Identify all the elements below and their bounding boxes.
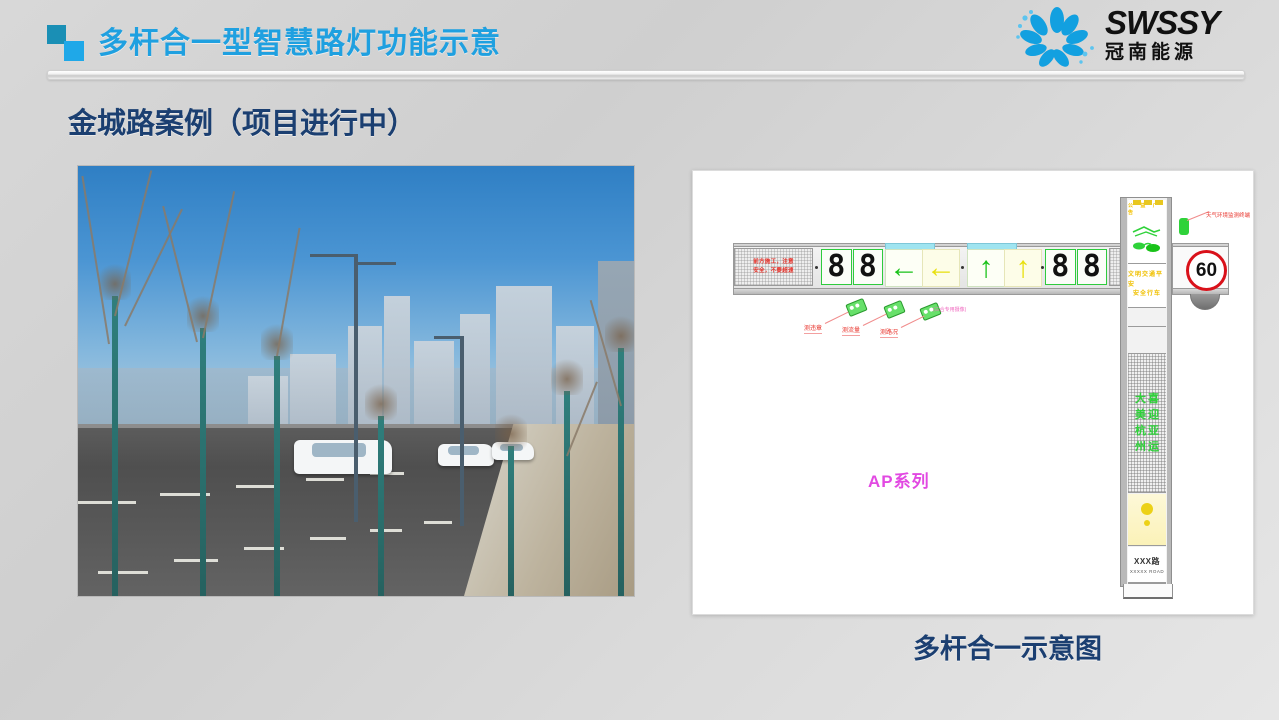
photo-tree [564,391,570,596]
page-title: 多杆合一型智慧路灯功能示意 [98,18,501,62]
lane-arrow-cell-3: ↑ [967,249,1005,287]
photo-tree [200,328,206,596]
banner-char: 美 [1135,410,1146,421]
street-name-en: XXXXX ROAD [1130,569,1164,574]
photo-lane-marking [310,537,346,540]
pole-mount-bracket [1155,200,1163,205]
gantry-right-countdown-digits: 8 8 [1045,249,1107,285]
photo-street-lamp-pole [460,336,464,526]
led-text-line-1: 前方施工，注意 [753,258,794,267]
section-subtitle: 金城路案例（项目进行中） [68,100,416,142]
pole-banner-column-left: 大 美 杭 州 [1135,394,1146,453]
speed-limit-sign: 60 [1186,250,1227,291]
street-name-cn: XXX路 [1134,556,1160,567]
callout-leader-line [825,312,849,324]
pole-banner-column-right: 喜 迎 亚 运 [1148,394,1159,453]
header-bullet-squares [47,25,89,61]
photo-lane-marking [370,529,402,532]
pole-public-ad-screen: 公 益 广 告 [1128,200,1166,264]
camera-callout-label: 测流量 [842,325,860,336]
led-text-line-2: 安全，不要超速 [753,267,794,276]
callout-leader-line [863,314,887,326]
jincheng-road-site-photo [77,165,635,597]
countdown-digit: 8 [1077,249,1108,285]
pole-segment-divider [1128,326,1166,327]
bullet-square-light-icon [64,41,84,61]
left-arrow-yellow-icon: ← [926,253,956,283]
weather-sensor-label: 天气环境监测终端 [1206,211,1250,219]
photo-street-lamp-arm [310,254,358,257]
camera-callout-label: 测路况 [880,327,898,338]
header-divider [47,70,1245,80]
lane-arrow-cell-1: ← [885,249,923,287]
logo-brand-text: SWSSY [1105,6,1260,39]
countdown-digit: 8 [853,249,884,285]
gantry-left-led-panel: 前方施工，注意 安全，不要超速 [734,248,813,286]
pole-mount-bracket [1144,200,1152,205]
photo-tree [112,296,118,596]
dome-camera-icon [1190,294,1220,310]
photo-tree [274,356,280,596]
pole-lightbox-ad-panel [1128,494,1166,546]
photo-street-lamp-pole [354,254,358,522]
banner-char: 迎 [1148,410,1159,421]
smart-pole-column: 公 益 广 告 文明交通平安 [1120,197,1172,587]
ad-graphic-circle-small [1144,520,1150,526]
pole-guide-line-1: 文明交通平安 [1128,271,1166,290]
photo-lane-marking [98,571,148,574]
ad-graphic-circle-large [1141,503,1153,515]
lane-arrow-cell-2: ← [922,249,960,287]
multi-pole-integration-schematic: 前方施工，注意 安全，不要超速 8 8 ← ← ↑ ↑ [692,170,1254,615]
countdown-digit: 8 [821,249,852,285]
panel-divider-dot [815,266,818,269]
pole-guide-text-panel: 文明交通平安 安全行车 [1128,264,1166,308]
photo-lane-marking [424,521,452,524]
banner-char: 喜 [1148,394,1159,405]
petal-flower-logo-icon [1013,6,1099,68]
photo-street-lamp-arm [434,336,464,339]
pole-banner-screen: 喜 迎 亚 运 大 美 杭 州 [1128,353,1166,493]
photo-building [598,261,634,446]
banner-char: 大 [1135,394,1146,405]
camera-callout-note: (三合专用摄像) [933,306,966,313]
photo-tree [508,446,514,596]
company-logo: SWSSY 冠南能源 [1013,2,1263,72]
pole-guide-line-2: 安全行车 [1133,290,1161,300]
banner-char: 运 [1148,442,1159,453]
pole-screen-artwork [1130,219,1164,259]
ap-series-label: AP系列 [868,467,930,492]
pole-mount-bracket [1133,200,1141,205]
left-arrow-green-icon: ← [889,253,919,283]
banner-char: 杭 [1135,426,1146,437]
banner-char: 州 [1135,442,1146,453]
photo-lane-marking [78,501,136,504]
logo-wordmark: SWSSY 冠南能源 [1105,6,1260,62]
photo-car-white-mid [438,444,494,466]
gantry-left-countdown-digits: 8 8 [821,249,883,285]
slide-root: 多杆合一型智慧路灯功能示意 [0,0,1279,720]
up-arrow-green-icon: ↑ [979,253,994,283]
panel-divider-dot [1041,266,1044,269]
photo-street-lamp-arm [354,262,396,265]
callout-leader-line [901,316,925,328]
countdown-digit: 8 [1045,249,1076,285]
lane-arrow-cell-4: ↑ [1004,249,1042,287]
logo-subbrand-text: 冠南能源 [1105,43,1260,62]
slide-header: 多杆合一型智慧路灯功能示意 [0,0,1279,78]
street-name-plate: XXX路 XXXXX ROAD [1128,547,1166,583]
traffic-camera-icon [845,298,867,317]
photo-tree [618,348,624,596]
diagram-caption: 多杆合一示意图 [913,627,1102,666]
banner-char: 亚 [1148,426,1159,437]
photo-lane-marking [174,559,218,562]
photo-tree [378,416,384,596]
traffic-camera-icon [883,300,905,319]
photo-lane-marking [306,478,344,481]
panel-divider-dot [961,266,964,269]
up-arrow-yellow-icon: ↑ [1016,253,1031,283]
pole-base-foundation [1123,584,1173,599]
camera-callout-label: 测违章 [804,323,822,334]
